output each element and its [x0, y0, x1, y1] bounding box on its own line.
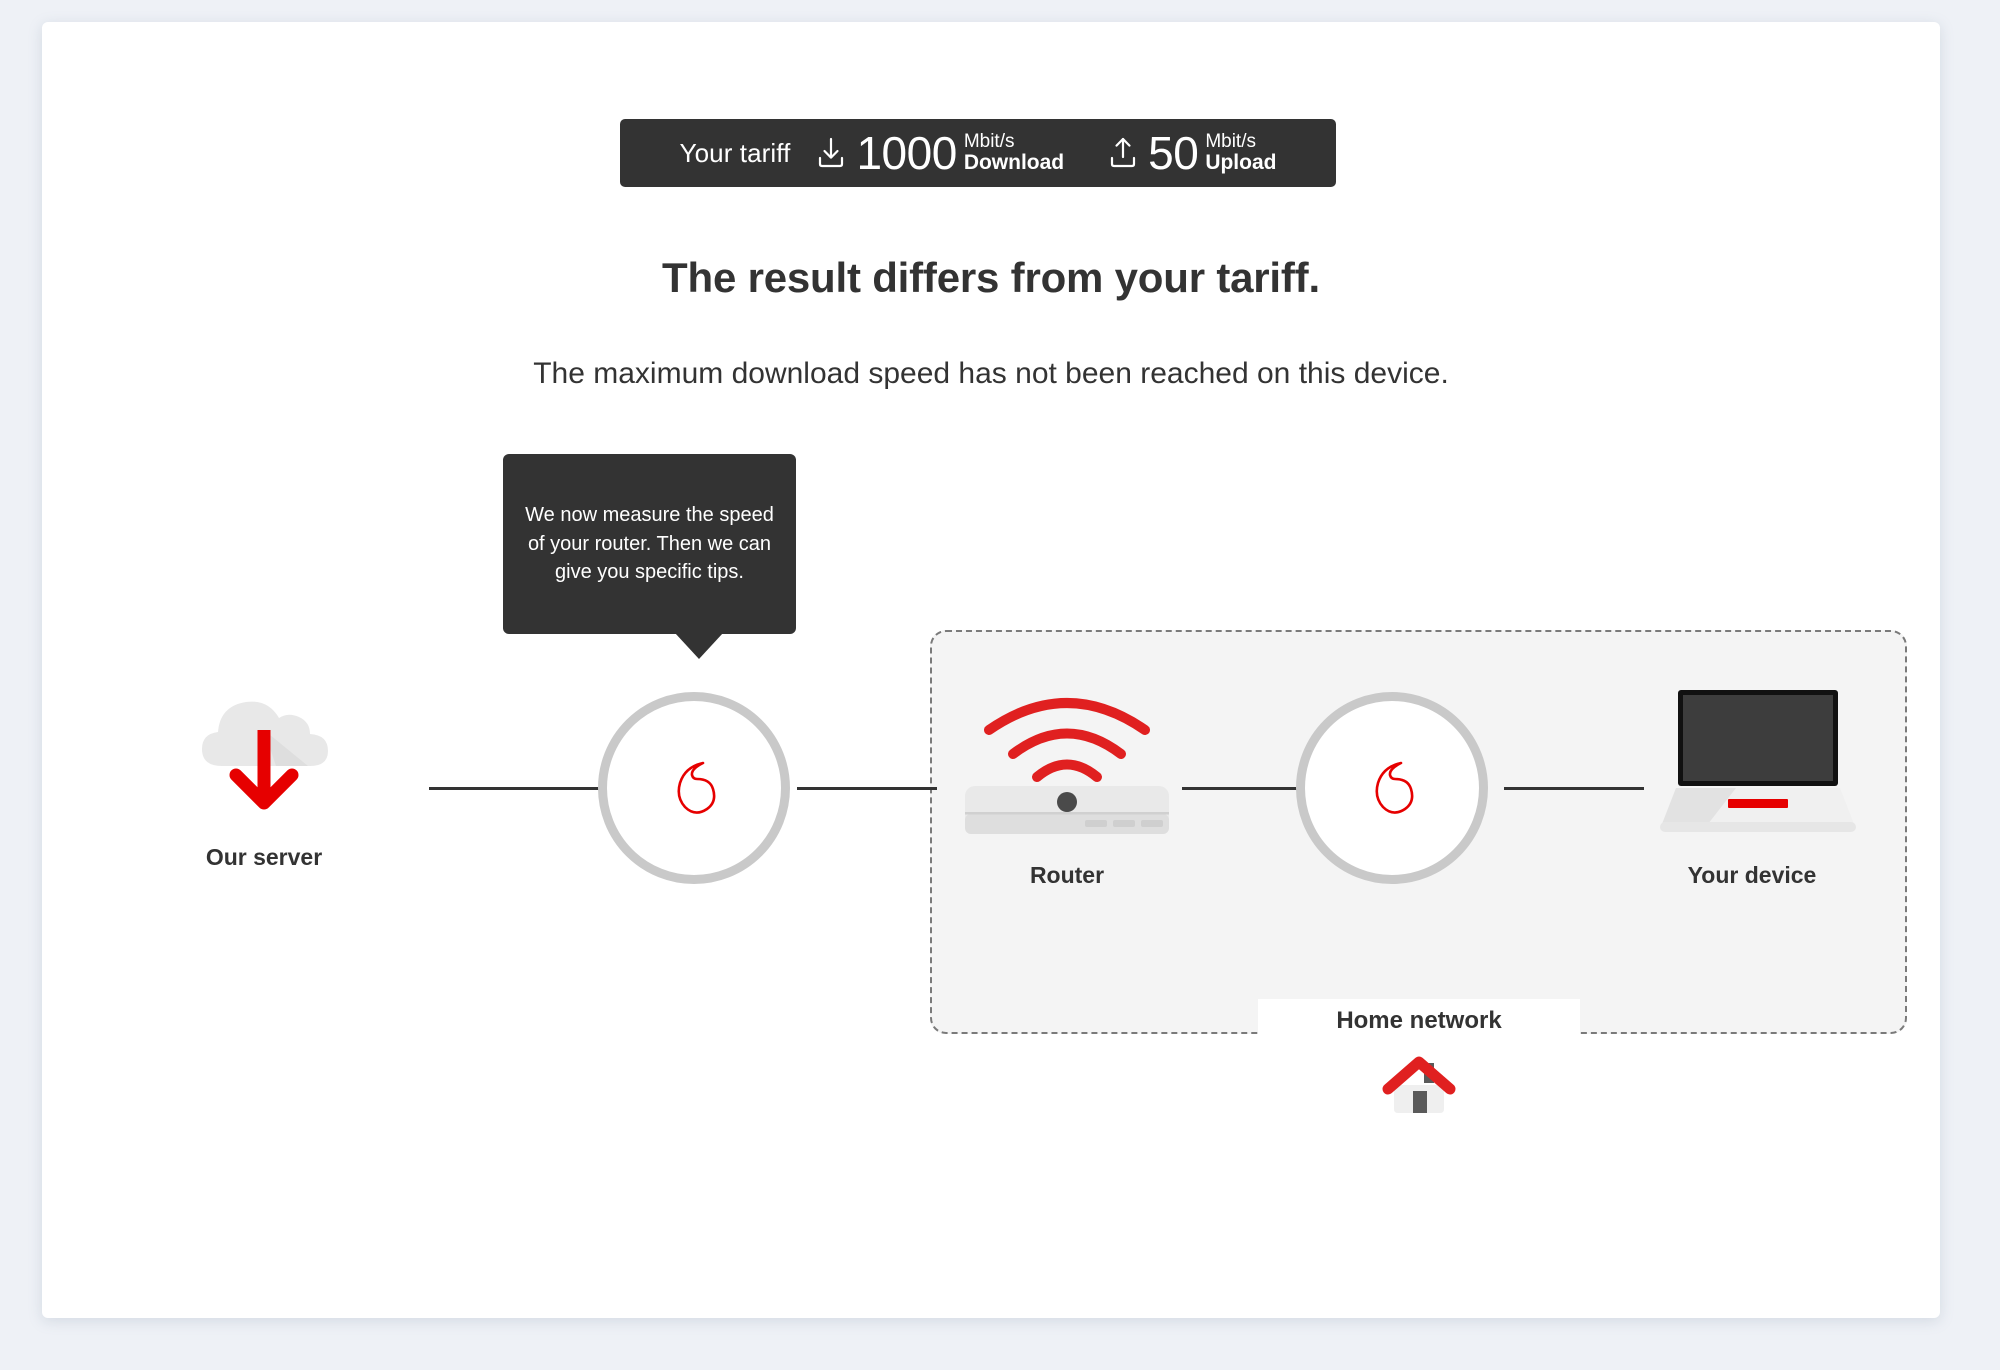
- tariff-summary-bar: Your tariff 1000 Mbit/s Download 50 Mbit…: [620, 119, 1336, 187]
- result-headline: The result differs from your tariff.: [42, 254, 1940, 302]
- measurement-tooltip: We now measure the speed of your router.…: [503, 454, 796, 634]
- result-card: Your tariff 1000 Mbit/s Download 50 Mbit…: [42, 22, 1940, 1318]
- upload-icon: [1108, 136, 1138, 170]
- download-value: 1000: [856, 130, 956, 176]
- home-network-label: Home network: [1258, 999, 1580, 1043]
- vodafone-logo-icon: [1361, 757, 1423, 819]
- router-wifi-icon: [961, 682, 1173, 842]
- node-our-server: Our server: [164, 662, 364, 871]
- laptop-icon: [1646, 682, 1858, 842]
- node-your-device: Your device: [1642, 682, 1862, 889]
- download-direction: Download: [964, 152, 1064, 174]
- tariff-upload-metric: 50 Mbit/s Upload: [1108, 130, 1276, 176]
- tariff-download-metric: 1000 Mbit/s Download: [816, 130, 1064, 176]
- house-icon: [1382, 1055, 1456, 1117]
- node-label-your-device: Your device: [1642, 862, 1862, 889]
- tariff-label: Your tariff: [680, 138, 791, 169]
- node-label-our-server: Our server: [164, 844, 364, 871]
- result-subline: The maximum download speed has not been …: [42, 357, 1940, 391]
- tooltip-text: We now measure the speed of your router.…: [507, 501, 792, 586]
- tooltip-tail-icon: [675, 633, 723, 659]
- connection-line-node2-to-device: [1504, 787, 1644, 790]
- connection-line-server-to-node1: [429, 787, 604, 790]
- node-router: Router: [957, 682, 1177, 889]
- vodafone-node-2: [1296, 692, 1488, 884]
- download-icon: [816, 136, 846, 170]
- upload-value: 50: [1148, 130, 1198, 176]
- vodafone-logo-icon: [663, 757, 725, 819]
- upload-direction: Upload: [1205, 152, 1276, 174]
- upload-units: Mbit/s Upload: [1205, 132, 1276, 174]
- cloud-download-icon: [176, 662, 352, 838]
- upload-unit: Mbit/s: [1205, 132, 1276, 152]
- download-unit: Mbit/s: [964, 132, 1064, 152]
- node-label-router: Router: [957, 862, 1177, 889]
- vodafone-node-1: [598, 692, 790, 884]
- connection-line-router-to-node2: [1182, 787, 1300, 790]
- download-units: Mbit/s Download: [964, 132, 1064, 174]
- connection-line-node1-to-panel: [797, 787, 937, 790]
